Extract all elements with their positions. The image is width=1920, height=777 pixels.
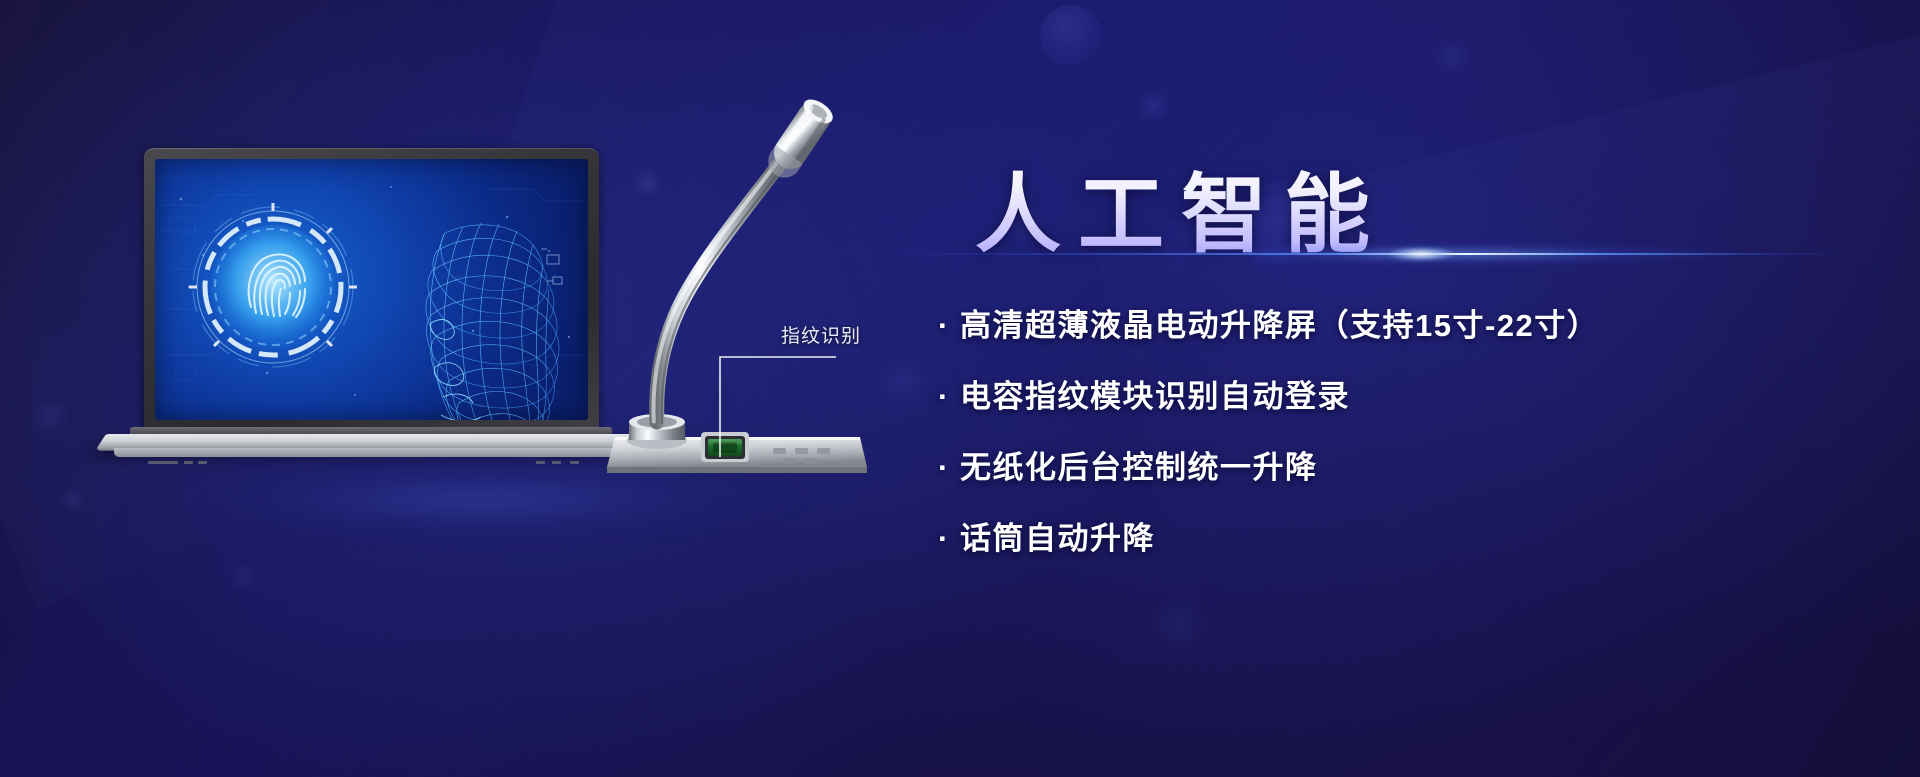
feature-text: 电容指纹模块识别自动登录 bbox=[960, 371, 1350, 416]
bokeh-circle bbox=[60, 486, 86, 512]
feature-text: 话筒自动升降 bbox=[960, 513, 1155, 558]
title-underline-glow bbox=[890, 242, 1850, 268]
callout-fingerprint: 指纹识别 bbox=[718, 335, 938, 460]
bokeh-circle bbox=[30, 396, 70, 436]
bullet-marker: · bbox=[938, 381, 960, 412]
bullet-marker: · bbox=[938, 310, 960, 341]
laptop-screen bbox=[155, 159, 588, 420]
feature-list: · 高清超薄液晶电动升降屏（支持15寸-22寸） · 电容指纹模块识别自动登录 … bbox=[930, 300, 1850, 558]
bokeh-circle bbox=[228, 560, 262, 594]
fingerprint-scanner-graphic bbox=[181, 195, 365, 379]
feature-item: · 高清超薄液晶电动升降屏（支持15寸-22寸） bbox=[938, 300, 1850, 345]
laptop-base-front-edge bbox=[114, 448, 626, 457]
bokeh-circle bbox=[1432, 36, 1472, 76]
bullet-marker: · bbox=[938, 523, 960, 554]
laptop-vent bbox=[184, 461, 193, 464]
microphone-head bbox=[762, 95, 837, 184]
feature-item: · 无纸化后台控制统一升降 bbox=[938, 442, 1850, 487]
laptop-vent bbox=[552, 461, 561, 464]
feature-text: 无纸化后台控制统一升降 bbox=[960, 442, 1318, 487]
callout-label: 指纹识别 bbox=[781, 321, 861, 348]
feature-item: · 话筒自动升降 bbox=[938, 513, 1850, 558]
glow-hotspot bbox=[1376, 244, 1466, 264]
laptop-vent bbox=[570, 461, 579, 464]
bokeh-circle bbox=[1040, 5, 1102, 67]
bullet-marker: · bbox=[938, 452, 960, 483]
callout-leader-line bbox=[720, 357, 836, 457]
laptop-lid bbox=[144, 148, 599, 433]
feature-item: · 电容指纹模块识别自动登录 bbox=[938, 371, 1850, 416]
content-panel: 人工智能 · 高清超薄液晶电动升降屏（支持15寸-22寸） · 电容指纹模块识别… bbox=[930, 150, 1850, 584]
glow-bar bbox=[890, 253, 1850, 255]
laptop-vent bbox=[198, 461, 207, 464]
bokeh-circle bbox=[1136, 88, 1170, 122]
ai-product-banner: 指纹识别 人工智能 · 高清超薄液晶电动升降屏（支持15寸-22寸） · 电容指… bbox=[0, 0, 1920, 777]
laptop-vent bbox=[536, 461, 545, 464]
feature-text: 高清超薄液晶电动升降屏（支持15寸-22寸） bbox=[960, 300, 1599, 345]
wireframe-face-graphic bbox=[426, 223, 562, 420]
laptop-device bbox=[100, 148, 620, 478]
title-block: 人工智能 bbox=[930, 150, 1850, 262]
laptop-vent bbox=[148, 461, 178, 464]
bokeh-circle bbox=[1150, 596, 1208, 654]
